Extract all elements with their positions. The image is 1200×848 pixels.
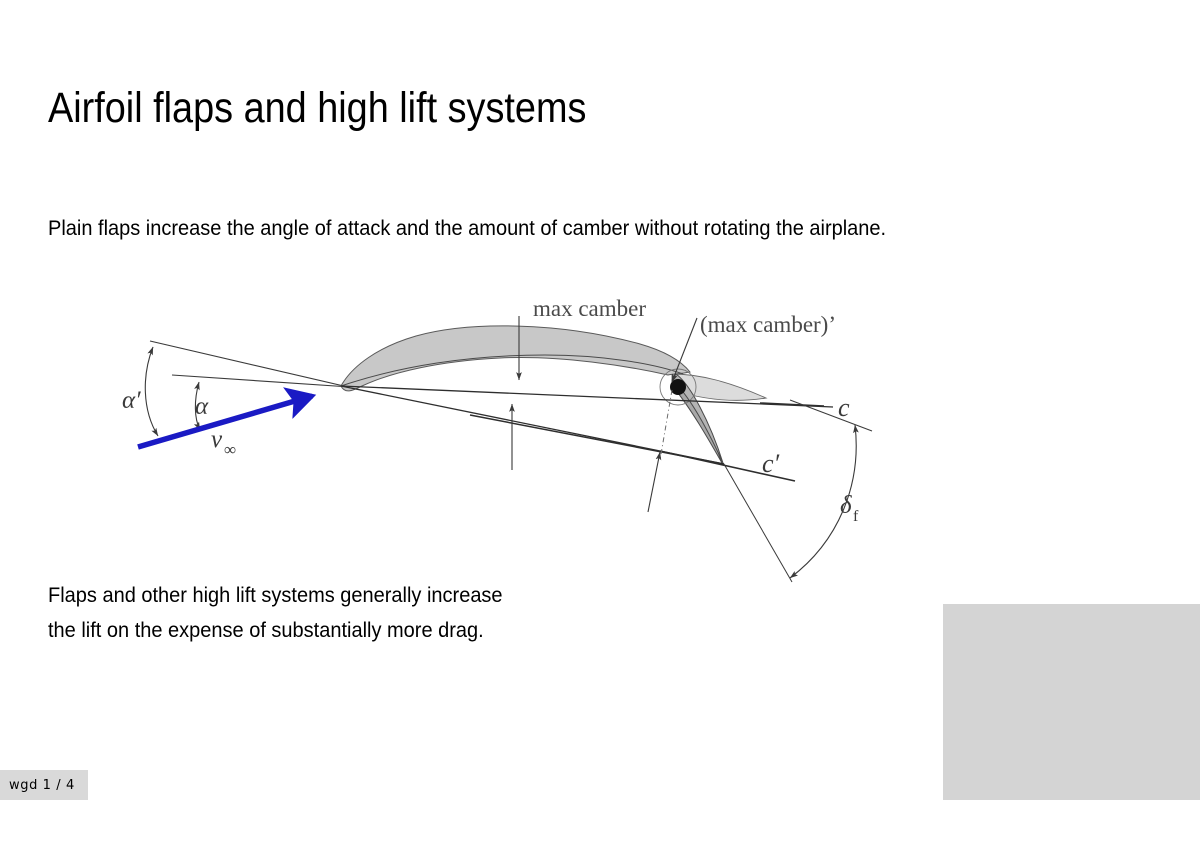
label-velocity-group: v ∞ <box>211 426 236 459</box>
conclusion-paragraph-line-2: the lift on the expense of substantially… <box>48 620 484 642</box>
label-velocity: v <box>211 426 223 453</box>
label-max-camber: max camber <box>533 296 646 321</box>
alpha-prime-arc-arrow <box>145 347 158 436</box>
label-chord-c-prime: c′ <box>762 449 780 478</box>
label-delta: δ <box>840 492 852 519</box>
label-max-camber-prime: (max camber)’ <box>700 312 836 337</box>
chord-prime-extension-left <box>470 415 724 464</box>
camber-measure-arrow-right <box>648 452 660 512</box>
label-alpha: α <box>195 393 209 420</box>
intro-paragraph: Plain flaps increase the angle of attack… <box>48 218 886 240</box>
delta-upper-reference <box>790 400 872 431</box>
image-placeholder-block <box>943 604 1200 800</box>
label-delta-subscript: f <box>853 508 859 525</box>
delta-lower-reference <box>724 464 792 582</box>
airfoil-body-shape <box>341 326 690 391</box>
label-alpha-prime: α′ <box>122 387 141 414</box>
label-flap-deflection-group: δ f <box>840 492 859 525</box>
airfoil-flap-diagram: max camber (max camber)’ α′ α v ∞ c c′ δ… <box>0 270 1000 590</box>
label-velocity-subscript: ∞ <box>224 440 236 459</box>
page-title: Airfoil flaps and high lift systems <box>48 86 586 131</box>
footer-bar: wgd 1 / 4 <box>0 770 88 800</box>
footer-page-indicator: wgd 1 / 4 <box>0 778 75 793</box>
conclusion-paragraph-line-1: Flaps and other high lift systems genera… <box>48 585 503 607</box>
label-chord-c: c <box>838 393 850 422</box>
